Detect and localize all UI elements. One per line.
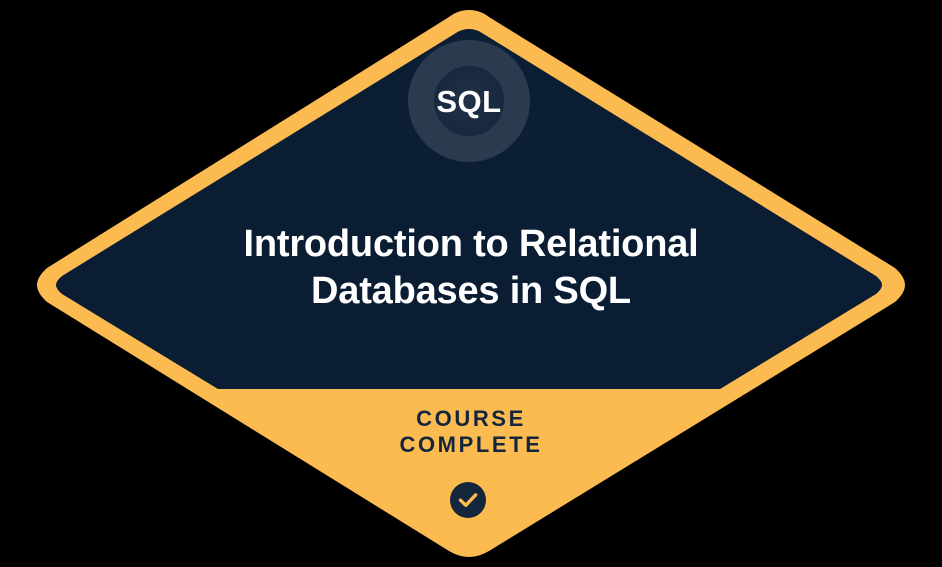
course-title: Introduction to Relational Databases in … [0,221,942,315]
status-line-complete: COMPLETE [0,432,942,458]
status-line-course: COURSE [0,406,942,432]
sql-logo-label: SQL [436,86,501,117]
course-status: COURSE COMPLETE [0,406,942,458]
badge-stage: SQL Introduction to Relational Databases… [0,0,942,567]
sql-logo-icon: SQL [408,40,530,162]
check-circle-icon [450,482,486,518]
